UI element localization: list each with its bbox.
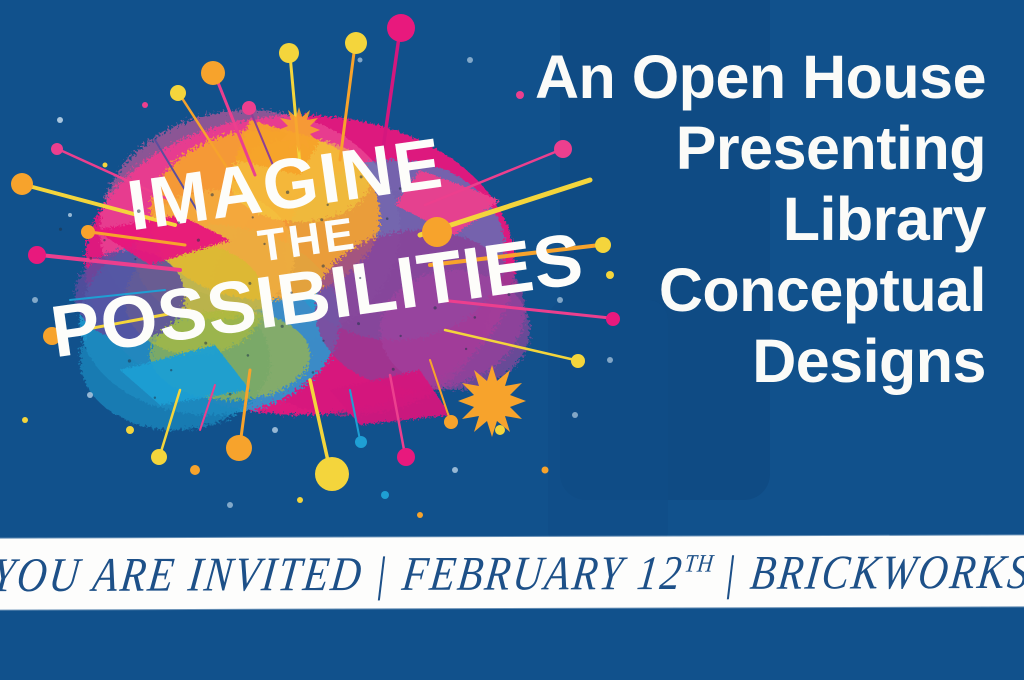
- headline: An Open House Presenting Library Concept…: [426, 42, 986, 397]
- banner-invite-label: YOU ARE INVITED: [0, 545, 367, 603]
- headline-line-3: Library: [426, 184, 986, 255]
- poster-canvas: IMAGINE THE POSSIBILITIES: [0, 0, 1024, 680]
- banner-separator-1: |: [361, 545, 406, 602]
- banner-venue-label: BRICKWORKS: [748, 543, 1024, 601]
- event-details-banner: YOU ARE INVITED | FEBRUARY 12TH | BRICKW…: [0, 535, 1024, 609]
- headline-line-2: Presenting: [426, 113, 986, 184]
- headline-line-4: Conceptual: [426, 255, 986, 326]
- banner-date-value: FEBRUARY 12: [400, 545, 687, 600]
- headline-line-1: An Open House: [426, 42, 986, 113]
- headline-line-5: Designs: [426, 326, 986, 397]
- banner-date-label: FEBRUARY 12TH: [399, 544, 716, 602]
- banner-date-ordinal: TH: [683, 549, 716, 577]
